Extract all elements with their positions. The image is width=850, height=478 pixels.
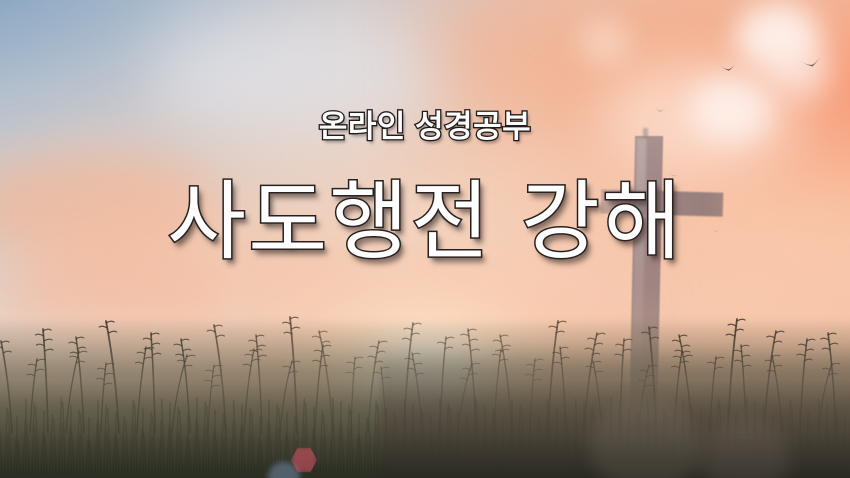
page-title: 사도행전 강해 (0, 177, 850, 267)
title-card-scene: 온라인 성경공부 사도행전 강해 (0, 0, 850, 478)
subtitle-text: 온라인 성경공부 (0, 101, 850, 146)
bokeh-highlight-2 (768, 44, 832, 100)
bokeh-highlight-4 (580, 20, 630, 64)
